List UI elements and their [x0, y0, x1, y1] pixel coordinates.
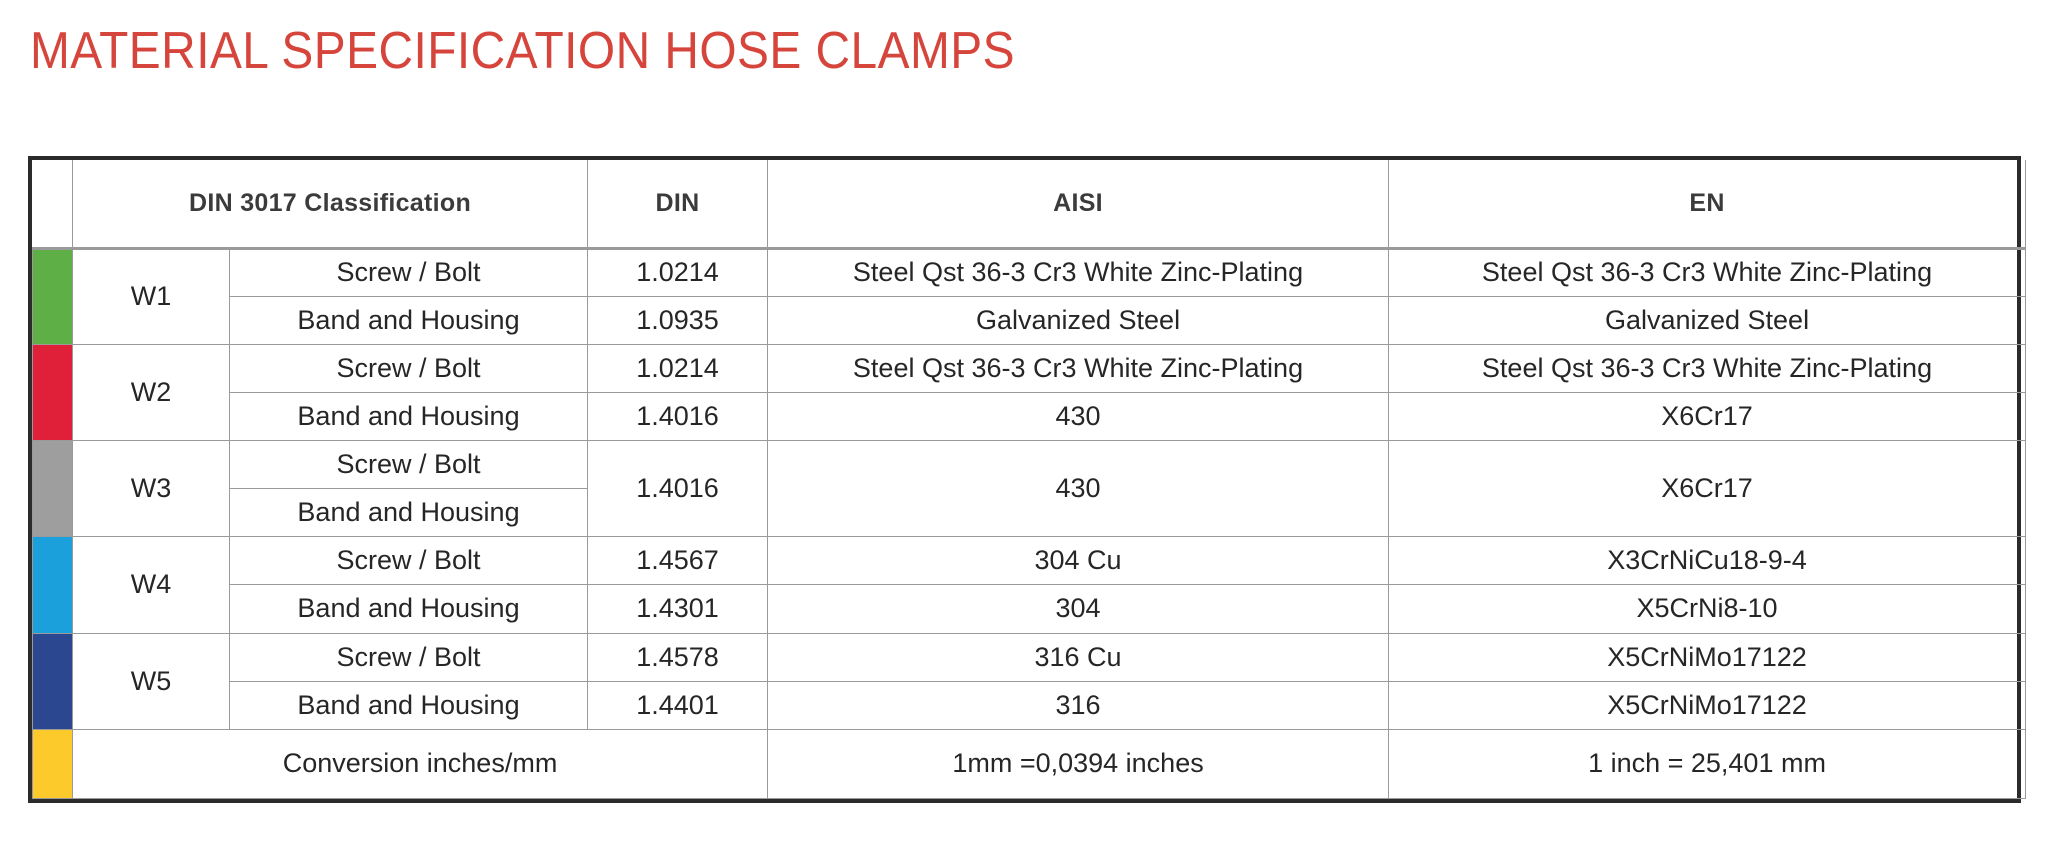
- part-name-cell: Screw / Bolt: [230, 248, 588, 296]
- aisi-value-cell: 430: [768, 441, 1389, 537]
- header-aisi: AISI: [768, 160, 1389, 248]
- aisi-value-cell: 316 Cu: [768, 633, 1389, 681]
- din-value-cell: 1.4016: [588, 441, 768, 537]
- aisi-value-cell: Steel Qst 36-3 Cr3 White Zinc-Plating: [768, 344, 1389, 392]
- table-row: Band and Housing1.4016430X6Cr17: [33, 392, 2026, 440]
- conversion-mm-to-inches: 1mm =0,0394 inches: [768, 729, 1389, 798]
- header-row: DIN 3017 Classification DIN AISI EN: [33, 160, 2026, 248]
- swatch-light-blue: [33, 537, 73, 633]
- aisi-value-cell: 304: [768, 585, 1389, 633]
- classification-code-w5: W5: [73, 633, 230, 729]
- header-en: EN: [1389, 160, 2026, 248]
- din-value-cell: 1.0935: [588, 296, 768, 344]
- table-header: DIN 3017 Classification DIN AISI EN: [33, 160, 2026, 248]
- aisi-value-cell: Galvanized Steel: [768, 296, 1389, 344]
- part-name-cell: Band and Housing: [230, 585, 588, 633]
- table-row: Band and Housing1.0935Galvanized SteelGa…: [33, 296, 2026, 344]
- part-name-cell: Screw / Bolt: [230, 441, 588, 489]
- part-name-cell: Band and Housing: [230, 296, 588, 344]
- en-value-cell: X5CrNiMo17122: [1389, 633, 2026, 681]
- en-value-cell: Steel Qst 36-3 Cr3 White Zinc-Plating: [1389, 248, 2026, 296]
- part-name-cell: Band and Housing: [230, 681, 588, 729]
- header-swatch-spacer: [33, 160, 73, 248]
- en-value-cell: X6Cr17: [1389, 392, 2026, 440]
- en-value-cell: X6Cr17: [1389, 441, 2026, 537]
- swatch-yellow: [33, 729, 73, 798]
- table-row: W2Screw / Bolt1.0214Steel Qst 36-3 Cr3 W…: [33, 344, 2026, 392]
- din-value-cell: 1.4578: [588, 633, 768, 681]
- spec-table: DIN 3017 Classification DIN AISI EN W1Sc…: [32, 160, 2026, 799]
- material-specification-table: DIN 3017 Classification DIN AISI EN W1Sc…: [28, 156, 2021, 803]
- header-classification: DIN 3017 Classification: [73, 160, 588, 248]
- classification-code-w2: W2: [73, 344, 230, 440]
- table-row: W1Screw / Bolt1.0214Steel Qst 36-3 Cr3 W…: [33, 248, 2026, 296]
- header-din: DIN: [588, 160, 768, 248]
- swatch-red: [33, 344, 73, 440]
- din-value-cell: 1.4567: [588, 537, 768, 585]
- conversion-label: Conversion inches/mm: [73, 729, 768, 798]
- table-row: Band and Housing1.4401316X5CrNiMo17122: [33, 681, 2026, 729]
- aisi-value-cell: 304 Cu: [768, 537, 1389, 585]
- page-title: MATERIAL SPECIFICATION HOSE CLAMPS: [30, 20, 1015, 82]
- part-name-cell: Band and Housing: [230, 392, 588, 440]
- part-name-cell: Screw / Bolt: [230, 633, 588, 681]
- din-value-cell: 1.4401: [588, 681, 768, 729]
- document-page: MATERIAL SPECIFICATION HOSE CLAMPS DIN 3…: [0, 0, 2047, 868]
- part-name-cell: Screw / Bolt: [230, 344, 588, 392]
- aisi-value-cell: 430: [768, 392, 1389, 440]
- aisi-value-cell: 316: [768, 681, 1389, 729]
- conversion-row: Conversion inches/mm1mm =0,0394 inches1 …: [33, 729, 2026, 798]
- table-body: W1Screw / Bolt1.0214Steel Qst 36-3 Cr3 W…: [33, 248, 2026, 799]
- table-row: W4Screw / Bolt1.4567304 CuX3CrNiCu18-9-4: [33, 537, 2026, 585]
- table-row: W3Screw / Bolt1.4016430X6Cr17: [33, 441, 2026, 489]
- swatch-dark-blue: [33, 633, 73, 729]
- part-name-cell: Band and Housing: [230, 489, 588, 537]
- swatch-green: [33, 248, 73, 344]
- conversion-inch-to-mm: 1 inch = 25,401 mm: [1389, 729, 2026, 798]
- din-value-cell: 1.4301: [588, 585, 768, 633]
- din-value-cell: 1.4016: [588, 392, 768, 440]
- swatch-gray: [33, 441, 73, 537]
- table-row: W5Screw / Bolt1.4578316 CuX5CrNiMo17122: [33, 633, 2026, 681]
- din-value-cell: 1.0214: [588, 344, 768, 392]
- classification-code-w3: W3: [73, 441, 230, 537]
- en-value-cell: X3CrNiCu18-9-4: [1389, 537, 2026, 585]
- din-value-cell: 1.0214: [588, 248, 768, 296]
- classification-code-w1: W1: [73, 248, 230, 344]
- classification-code-w4: W4: [73, 537, 230, 633]
- table-row: Band and Housing1.4301304X5CrNi8-10: [33, 585, 2026, 633]
- aisi-value-cell: Steel Qst 36-3 Cr3 White Zinc-Plating: [768, 248, 1389, 296]
- part-name-cell: Screw / Bolt: [230, 537, 588, 585]
- en-value-cell: Steel Qst 36-3 Cr3 White Zinc-Plating: [1389, 344, 2026, 392]
- en-value-cell: X5CrNi8-10: [1389, 585, 2026, 633]
- en-value-cell: X5CrNiMo17122: [1389, 681, 2026, 729]
- en-value-cell: Galvanized Steel: [1389, 296, 2026, 344]
